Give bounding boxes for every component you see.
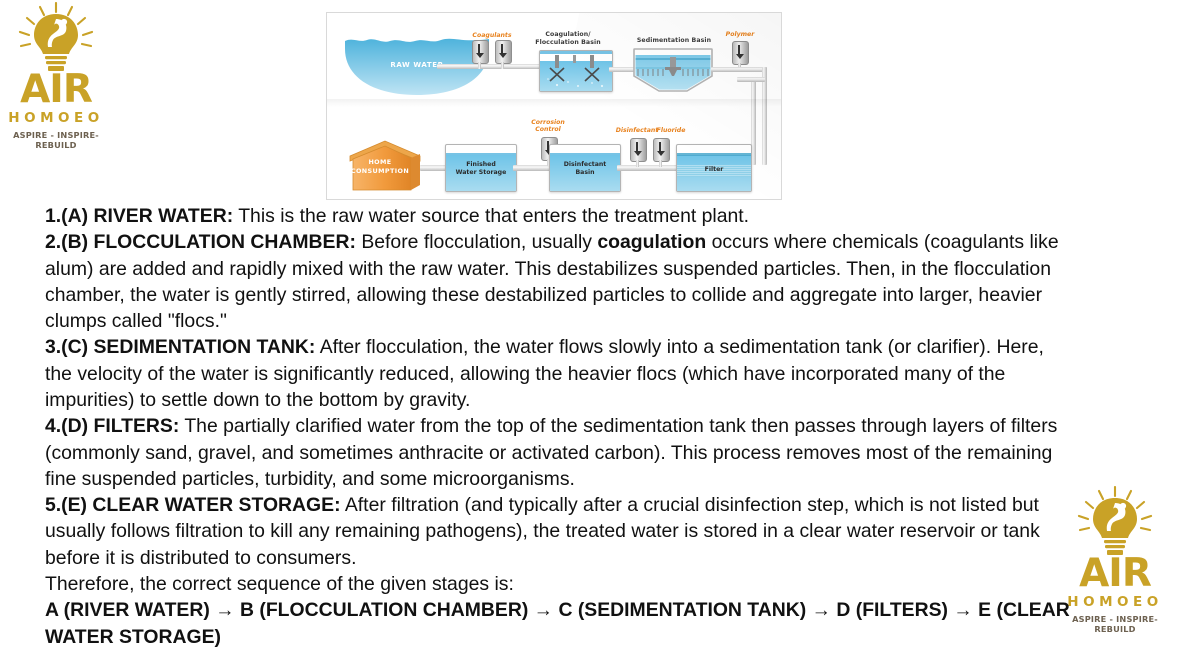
sedimentation-basin-label: Sedimentation Basin (627, 37, 721, 45)
pipe-sed-to-right (711, 67, 767, 72)
diagram-horizon-overlay (327, 99, 781, 107)
pipe-filter-to-disinfectant (617, 165, 679, 171)
logo-brand-text: AIR (1059, 558, 1171, 590)
step-2-emphasis: coagulation (597, 231, 706, 253)
lightbulb-with-question-mark-icon (0, 2, 112, 76)
step-4-paragraph: 4.(D) FILTERS: The partially clarified w… (45, 413, 1070, 492)
disinfectant-basin-line2: Basin (575, 169, 594, 176)
home-consumption-node: HOME CONSUMPTION (347, 138, 427, 193)
coagulants-label: Coagulants (457, 32, 527, 39)
step-4-text: The partially clarified water from the t… (45, 415, 1057, 490)
dosing-unit-fluoride (653, 138, 668, 168)
coagulation-flocculation-basin (539, 50, 613, 92)
step-1-text: This is the raw water source that enters… (233, 205, 749, 227)
fluoride-label: Fluoride (649, 127, 693, 134)
disinfectant-basin-label: Disinfectant Basin (550, 161, 620, 177)
explanation-text-block: 1.(A) RIVER WATER: This is the raw water… (45, 203, 1070, 650)
dosing-unit-coagulant-2 (495, 40, 510, 70)
coagulation-basin-label-line1: Coagulation/ (545, 31, 590, 38)
step-3-label: 3.(C) SEDIMENTATION TANK: (45, 336, 315, 358)
corrosion-control-label: Corrosion Control (517, 119, 579, 134)
filter-label: Filter (677, 166, 751, 174)
logo-brand-text: AIR (0, 74, 112, 106)
fws-line1: Finished (466, 161, 496, 168)
dosing-unit-disinfectant (630, 138, 645, 168)
fws-line2: Water Storage (456, 169, 507, 176)
step-3-paragraph: 3.(C) SEDIMENTATION TANK: After floccula… (45, 334, 1070, 413)
logo-sub-text: HOMOEO (1059, 594, 1171, 610)
sedimentation-basin (633, 48, 713, 93)
logo-sub-text: HOMOEO (0, 110, 112, 126)
logo-bottom-right: AIR HOMOEO ASPIRE - INSPIRE- REBUILD (1059, 486, 1171, 634)
disinfectant-basin-line1: Disinfectant (564, 161, 607, 168)
step-2-label: 2.(B) FLOCCULATION CHAMBER: (45, 231, 356, 253)
step-1-label: 1.(A) RIVER WATER: (45, 205, 233, 227)
pipe-coag-to-sed (609, 67, 635, 72)
step-2-text-before: Before flocculation, usually (356, 231, 597, 253)
logo-top-left: AIR HOMOEO ASPIRE - INSPIRE- REBUILD (0, 2, 112, 150)
step-1-paragraph: 1.(A) RIVER WATER: This is the raw water… (45, 203, 1070, 229)
step-5-label: 5.(E) CLEAR WATER STORAGE: (45, 494, 341, 516)
step-4-label: 4.(D) FILTERS: (45, 415, 179, 437)
step-2-paragraph: 2.(B) FLOCCULATION CHAMBER: Before flocc… (45, 229, 1070, 334)
finished-water-storage-label: Finished Water Storage (446, 161, 516, 177)
water-treatment-process-diagram: RAW WATER Coagulants Coagulation/ Floccu… (326, 12, 782, 200)
conclusion-sequence: A (RIVER WATER) → B (FLOCCULATION CHAMBE… (45, 597, 1070, 650)
logo-tagline: ASPIRE - INSPIRE- REBUILD (0, 130, 112, 150)
step-5-paragraph: 5.(E) CLEAR WATER STORAGE: After filtrat… (45, 492, 1070, 571)
home-consumption-label-line2: CONSUMPTION (351, 167, 409, 175)
finished-water-storage-tank: Finished Water Storage (445, 144, 517, 192)
home-consumption-label-line1: HOME (368, 158, 391, 166)
filter-tank: Filter (676, 144, 752, 192)
coagulation-basin-label: Coagulation/ Flocculation Basin (523, 31, 613, 46)
conclusion-intro: Therefore, the correct sequence of the g… (45, 571, 1070, 597)
pipe-storage-to-home (420, 165, 448, 171)
corrosion-control-line2: Control (535, 126, 561, 133)
logo-tagline: ASPIRE - INSPIRE- REBUILD (1059, 614, 1171, 634)
polymer-label: Polymer (713, 31, 767, 38)
corrosion-control-line1: Corrosion (531, 119, 565, 126)
lightbulb-with-question-mark-icon (1059, 486, 1171, 560)
disinfectant-basin: Disinfectant Basin (549, 144, 621, 192)
coagulation-basin-label-line2: Flocculation Basin (535, 39, 600, 46)
pipe-intake (437, 64, 547, 69)
dosing-unit-coagulant-1 (472, 40, 487, 70)
pipe-right-elbow-top (737, 77, 765, 82)
